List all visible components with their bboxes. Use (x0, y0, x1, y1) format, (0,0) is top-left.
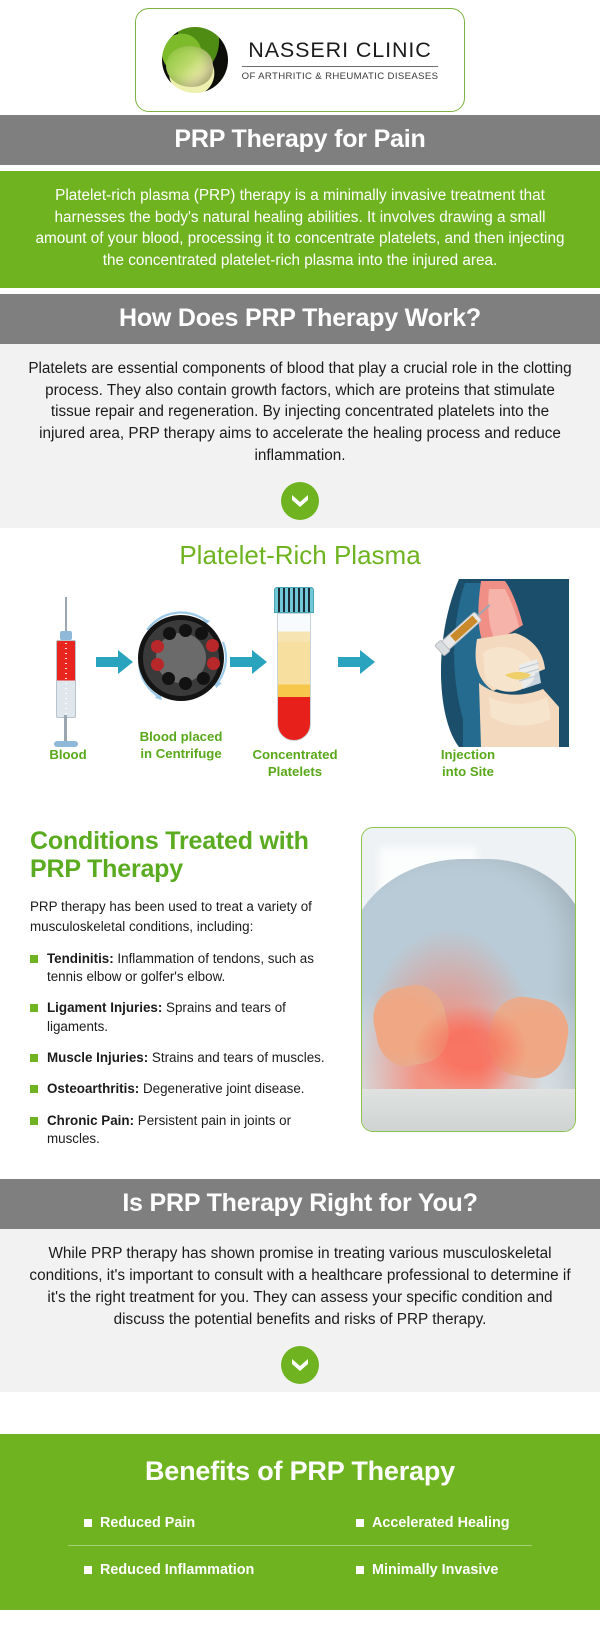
bullet-square-icon (30, 1117, 38, 1125)
chevron-down-badge-icon (281, 482, 319, 520)
chevron-badge-holder-1 (0, 482, 600, 528)
condition-term: Ligament Injuries: (47, 1000, 162, 1015)
bullet-square-icon (84, 1566, 92, 1574)
leaf-circle-logo-icon (162, 27, 228, 93)
logo-divider (242, 66, 439, 67)
list-item: Ligament Injuries: Sprains and tears of … (30, 999, 343, 1036)
step-label-centrifuge-line1: Blood placed (140, 729, 223, 744)
spacer-white (0, 1392, 600, 1434)
benefit-item: Accelerated Healing (300, 1509, 572, 1545)
logo-text: NASSERI CLINIC OF ARTHRITIC & RHEUMATIC … (242, 38, 439, 82)
condition-desc: Strains and tears of muscles. (148, 1050, 324, 1065)
conditions-title: Conditions Treated with PRP Therapy (30, 827, 343, 883)
conditions-intro: PRP therapy has been used to treat a var… (30, 897, 343, 935)
step-label-injection-line1: Injection (441, 747, 495, 762)
section-heading-intro: PRP Therapy for Pain (0, 115, 600, 165)
conditions-section: Conditions Treated with PRP Therapy PRP … (0, 813, 600, 1179)
list-item: Muscle Injuries: Strains and tears of mu… (30, 1049, 343, 1067)
benefit-item: Reduced Pain (28, 1509, 300, 1545)
step-label-concentrated-line2: Platelets (268, 764, 322, 779)
conditions-list: Tendinitis: Inflammation of tendons, suc… (30, 950, 343, 1149)
condition-term: Osteoarthritis: (47, 1081, 139, 1096)
step-label-concentrated-line1: Concentrated (253, 747, 338, 762)
syringe-icon (46, 597, 86, 747)
benefit-item: Minimally Invasive (300, 1546, 572, 1584)
centrifuge-icon (138, 615, 224, 701)
step-label-injection: Injection into Site (400, 747, 536, 780)
test-tube-icon (272, 587, 316, 747)
condition-desc: Degenerative joint disease. (139, 1081, 304, 1096)
step-label-injection-line2: into Site (442, 764, 494, 779)
diagram-stages (8, 575, 592, 745)
benefits-title: Benefits of PRP Therapy (0, 1456, 600, 1487)
benefit-label: Reduced Inflammation (100, 1562, 254, 1578)
bullet-square-icon (30, 1085, 38, 1093)
arrow-right-icon-3 (338, 649, 376, 675)
section-heading-how-it-works: How Does PRP Therapy Work? (0, 294, 600, 344)
conditions-title-line1: Conditions Treated with (30, 827, 309, 855)
clinic-tagline: OF ARTHRITIC & RHEUMATIC DISEASES (242, 71, 439, 82)
chevron-down-badge-icon (281, 1346, 319, 1384)
section-body-intro: Platelet-rich plasma (PRP) therapy is a … (0, 171, 600, 288)
list-item: Chronic Pain: Persistent pain in joints … (30, 1112, 343, 1149)
section-heading-right-for-you: Is PRP Therapy Right for You? (0, 1179, 600, 1229)
step-label-centrifuge-line2: in Centrifuge (140, 746, 221, 761)
bullet-square-icon (30, 1004, 38, 1012)
benefits-section: Benefits of PRP Therapy Reduced Pain Acc… (0, 1434, 600, 1610)
section-body-right-for-you: While PRP therapy has shown promise in t… (0, 1229, 600, 1346)
bullet-square-icon (356, 1566, 364, 1574)
bullet-square-icon (30, 1054, 38, 1062)
chevron-badge-holder-2 (0, 1346, 600, 1392)
step-label-blood: Blood (28, 747, 108, 764)
arrow-right-icon-2 (230, 649, 268, 675)
benefits-grid: Reduced Pain Accelerated Healing Reduced… (0, 1509, 600, 1584)
knee-injection-icon (419, 579, 584, 747)
section-body-how-it-works: Platelets are essential components of bl… (0, 344, 600, 483)
bullet-square-icon (30, 955, 38, 963)
man-with-lower-back-pain-photo (361, 827, 576, 1132)
list-item: Tendinitis: Inflammation of tendons, suc… (30, 950, 343, 987)
bullet-square-icon (356, 1519, 364, 1527)
condition-term: Chronic Pain: (47, 1113, 134, 1128)
benefit-label: Minimally Invasive (372, 1562, 498, 1578)
logo-box: NASSERI CLINIC OF ARTHRITIC & RHEUMATIC … (135, 8, 465, 112)
conditions-title-line2: PRP Therapy (30, 855, 183, 883)
benefit-label: Reduced Pain (100, 1515, 195, 1531)
bullet-square-icon (84, 1519, 92, 1527)
list-item: Osteoarthritis: Degenerative joint disea… (30, 1080, 343, 1098)
step-label-concentrated: Concentrated Platelets (220, 747, 370, 780)
benefit-label: Accelerated Healing (372, 1515, 510, 1531)
condition-term: Muscle Injuries: (47, 1050, 148, 1065)
prp-process-diagram: Platelet-Rich Plasma (0, 528, 600, 813)
diagram-title: Platelet-Rich Plasma (0, 540, 600, 575)
condition-term: Tendinitis: (47, 951, 114, 966)
clinic-name: NASSERI CLINIC (248, 38, 431, 63)
diagram-step-labels: Blood Blood placed in Centrifuge Concent… (8, 747, 592, 803)
benefit-item: Reduced Inflammation (28, 1546, 300, 1584)
logo-header: NASSERI CLINIC OF ARTHRITIC & RHEUMATIC … (0, 0, 600, 115)
